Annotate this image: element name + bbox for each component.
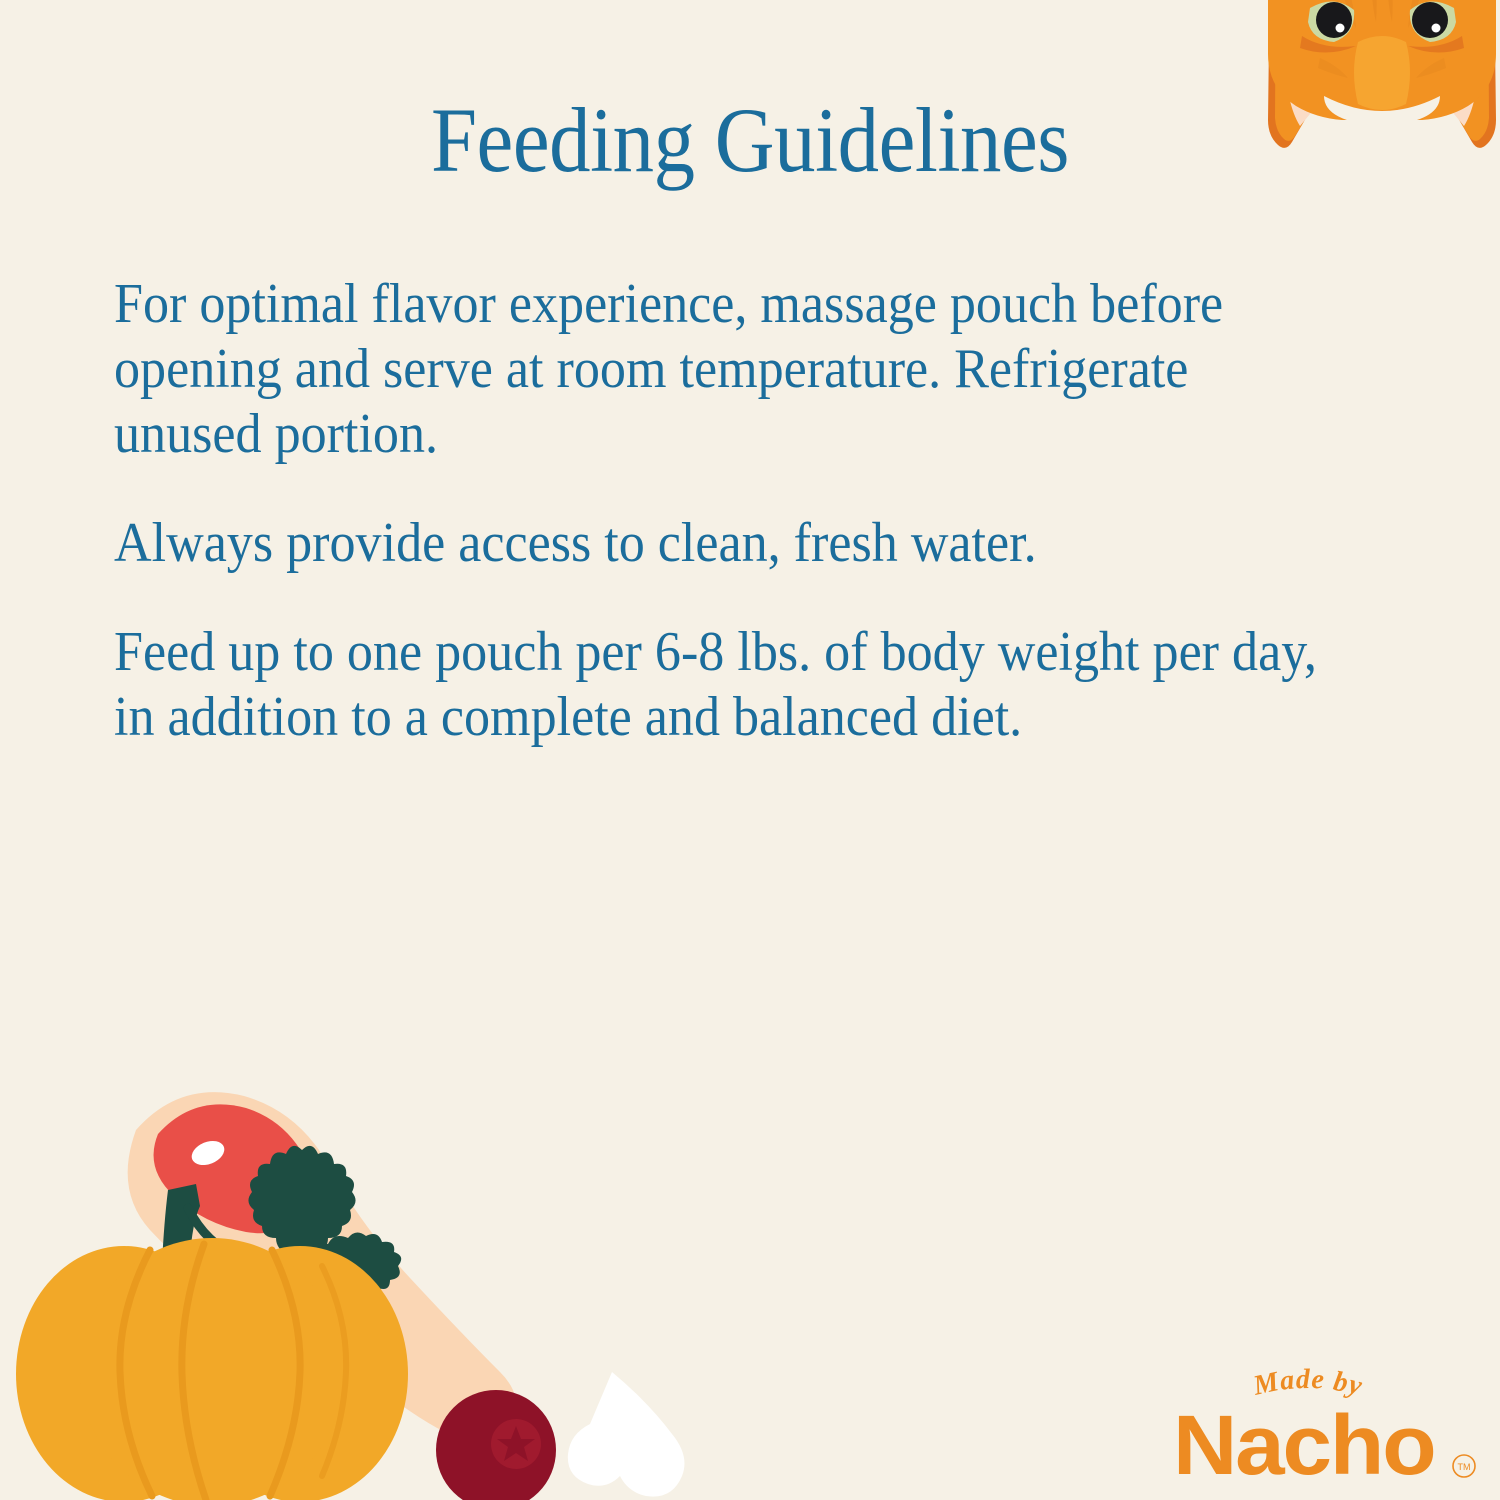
made-by-label: Made by [1250,1364,1366,1402]
svg-text:TM: TM [1458,1462,1471,1472]
feeding-guidelines-panel: Feeding Guidelines For optimal flavor ex… [0,0,1500,1500]
trademark-mark: TM [1453,1455,1475,1477]
feeding-instructions: For optimal flavor experience, massage p… [114,272,1414,750]
brand-logo: Made by Nacho TM [1132,1362,1482,1492]
instruction-portion: Feed up to one pouch per 6-8 lbs. of bod… [114,620,1323,750]
instruction-water: Always provide access to clean, fresh wa… [114,511,1323,576]
instruction-storage: For optimal flavor experience, massage p… [114,272,1323,467]
food-illustration-group [0,1072,720,1500]
page-title: Feeding Guidelines [75,92,1425,189]
brand-wordmark: Nacho [1173,1399,1434,1492]
